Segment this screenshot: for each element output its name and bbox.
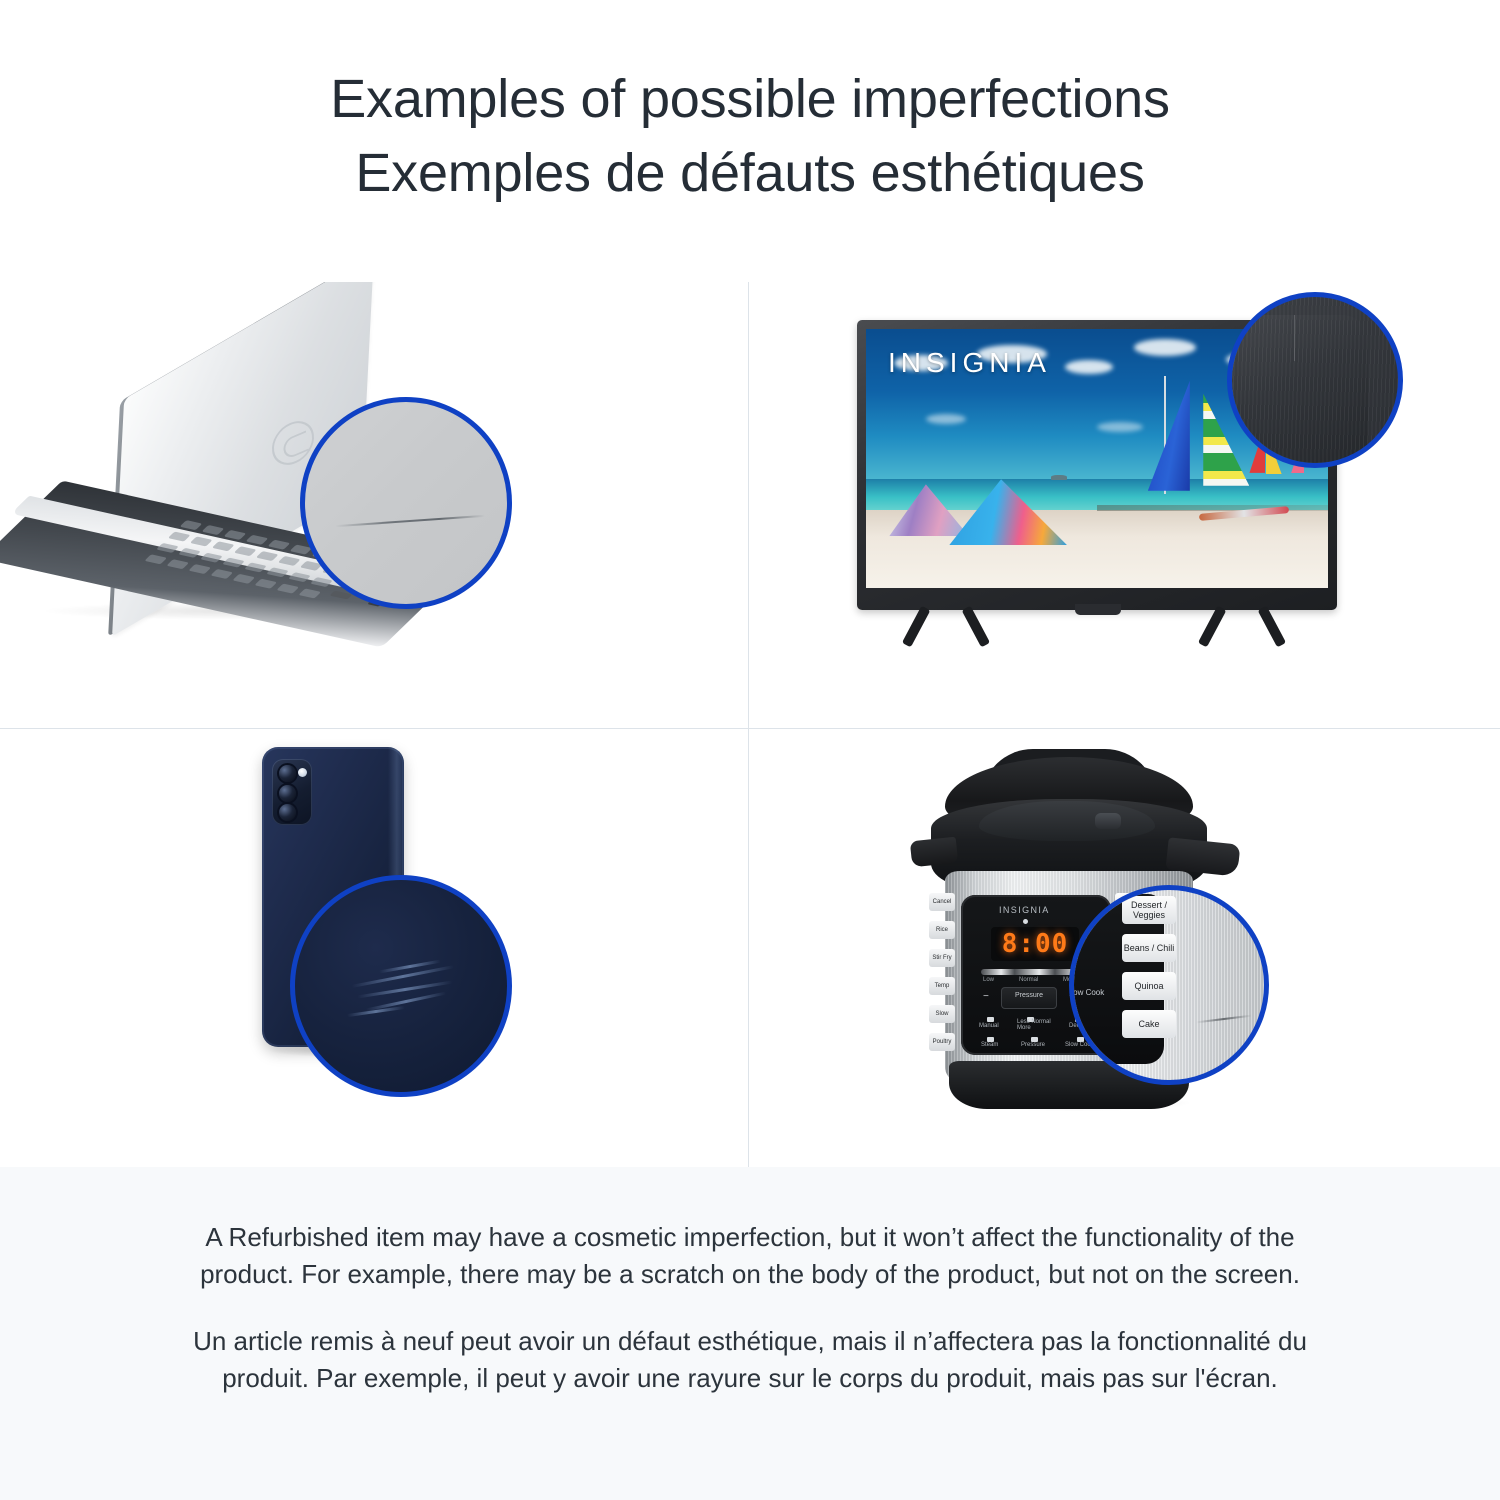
laptop-scratch-defect bbox=[335, 515, 485, 527]
magnifier-circle-television bbox=[1227, 292, 1403, 468]
footer-paragraph-en: A Refurbished item may have a cosmetic i… bbox=[186, 1219, 1314, 1293]
cooker-button[interactable]: Rice bbox=[929, 921, 955, 939]
pressure-cooker-illustration: Cancel Rice Stir Fry Temp Slow Poultry I… bbox=[909, 743, 1249, 1143]
cooker-button[interactable]: Temp bbox=[929, 977, 955, 995]
cooker-button-zoom[interactable]: Beans / Chili bbox=[1122, 934, 1176, 962]
camera-lens-icon bbox=[279, 785, 296, 802]
page-title-en: Examples of possible imperfections bbox=[0, 62, 1500, 136]
cooker-button-zoom[interactable]: Dessert / Veggies bbox=[1122, 896, 1176, 924]
tv-foot-left bbox=[901, 608, 997, 648]
camera-lens-icon bbox=[279, 804, 296, 821]
cooker-button-label-zoom: Slow Cook bbox=[1069, 988, 1104, 997]
cooker-lid-face bbox=[979, 801, 1155, 841]
cooker-mode-label: Pressure bbox=[1001, 992, 1057, 999]
example-cell-television: INSIGNIA bbox=[749, 282, 1497, 728]
cooker-button[interactable]: Slow bbox=[929, 1005, 955, 1023]
tv-foot-right bbox=[1197, 608, 1293, 648]
cooker-button-label: Less Normal More bbox=[1017, 1019, 1051, 1031]
example-cell-smartphone bbox=[0, 729, 748, 1167]
smartphone-illustration bbox=[262, 747, 492, 1147]
refurbished-imperfections-infographic: Examples of possible imperfections Exemp… bbox=[0, 0, 1500, 1500]
cloud-shape bbox=[1065, 360, 1113, 374]
magnifier-circle-laptop bbox=[300, 397, 512, 609]
camera-flash-icon bbox=[298, 768, 307, 777]
cooker-timer-value: 8:00 bbox=[1002, 929, 1069, 959]
cooker-left-button-column: Cancel Rice Stir Fry Temp Slow Poultry bbox=[929, 893, 955, 1061]
cooker-mode-button[interactable]: Pressure bbox=[1001, 987, 1057, 1009]
tv-bezel-texture bbox=[1232, 297, 1398, 463]
footer-description: A Refurbished item may have a cosmetic i… bbox=[0, 1167, 1500, 1500]
page-title: Examples of possible imperfections Exemp… bbox=[0, 62, 1500, 210]
example-cell-laptop bbox=[0, 282, 748, 728]
slider-label: Normal bbox=[1019, 977, 1038, 983]
tv-logo-badge bbox=[1075, 604, 1121, 615]
cooker-button-label: Steam bbox=[981, 1042, 998, 1048]
example-cell-pressure-cooker: Cancel Rice Stir Fry Temp Slow Poultry I… bbox=[749, 729, 1497, 1167]
cooker-button-zoom[interactable]: Cake bbox=[1122, 1010, 1176, 1038]
cooker-button-label: Manual bbox=[979, 1023, 999, 1029]
footer-paragraph-fr: Un article remis à neuf peut avoir un dé… bbox=[186, 1323, 1314, 1397]
magnifier-circle-pressure-cooker: Delay Slow Cook Dessert / Veggies Beans … bbox=[1069, 885, 1269, 1085]
television-illustration: INSIGNIA bbox=[857, 292, 1367, 672]
cooker-button[interactable]: Stir Fry bbox=[929, 949, 955, 967]
cooker-status-indicator bbox=[1023, 919, 1028, 924]
cooker-pressure-valve bbox=[1095, 813, 1121, 829]
slider-label: Low bbox=[983, 977, 994, 983]
tv-brand-logo: INSIGNIA bbox=[888, 347, 1051, 379]
distant-boat-shape bbox=[1051, 475, 1067, 480]
examples-grid: INSIGNIA bbox=[0, 282, 1500, 1167]
cooker-side-handle-left bbox=[910, 837, 958, 868]
camera-module-icon bbox=[272, 759, 312, 825]
camera-lens-icon bbox=[279, 765, 296, 782]
cooker-button[interactable]: Cancel bbox=[929, 893, 955, 911]
cooker-lcd-display: 8:00 bbox=[991, 927, 1079, 961]
laptop-illustration bbox=[10, 302, 510, 702]
cooker-button-dot[interactable] bbox=[987, 1017, 994, 1022]
cooker-brand-logo: INSIGNIA bbox=[999, 905, 1050, 915]
cooker-button-zoom[interactable]: Quinoa bbox=[1122, 972, 1176, 1000]
cooker-button[interactable]: Poultry bbox=[929, 1033, 955, 1051]
cooker-decrement-button[interactable]: − bbox=[983, 991, 989, 1002]
shoreline-shape bbox=[1097, 505, 1328, 511]
cooker-button-label: Pressure bbox=[1021, 1042, 1045, 1048]
magnifier-circle-smartphone bbox=[290, 875, 512, 1097]
page-title-fr: Exemples de défauts esthétiques bbox=[0, 136, 1500, 210]
